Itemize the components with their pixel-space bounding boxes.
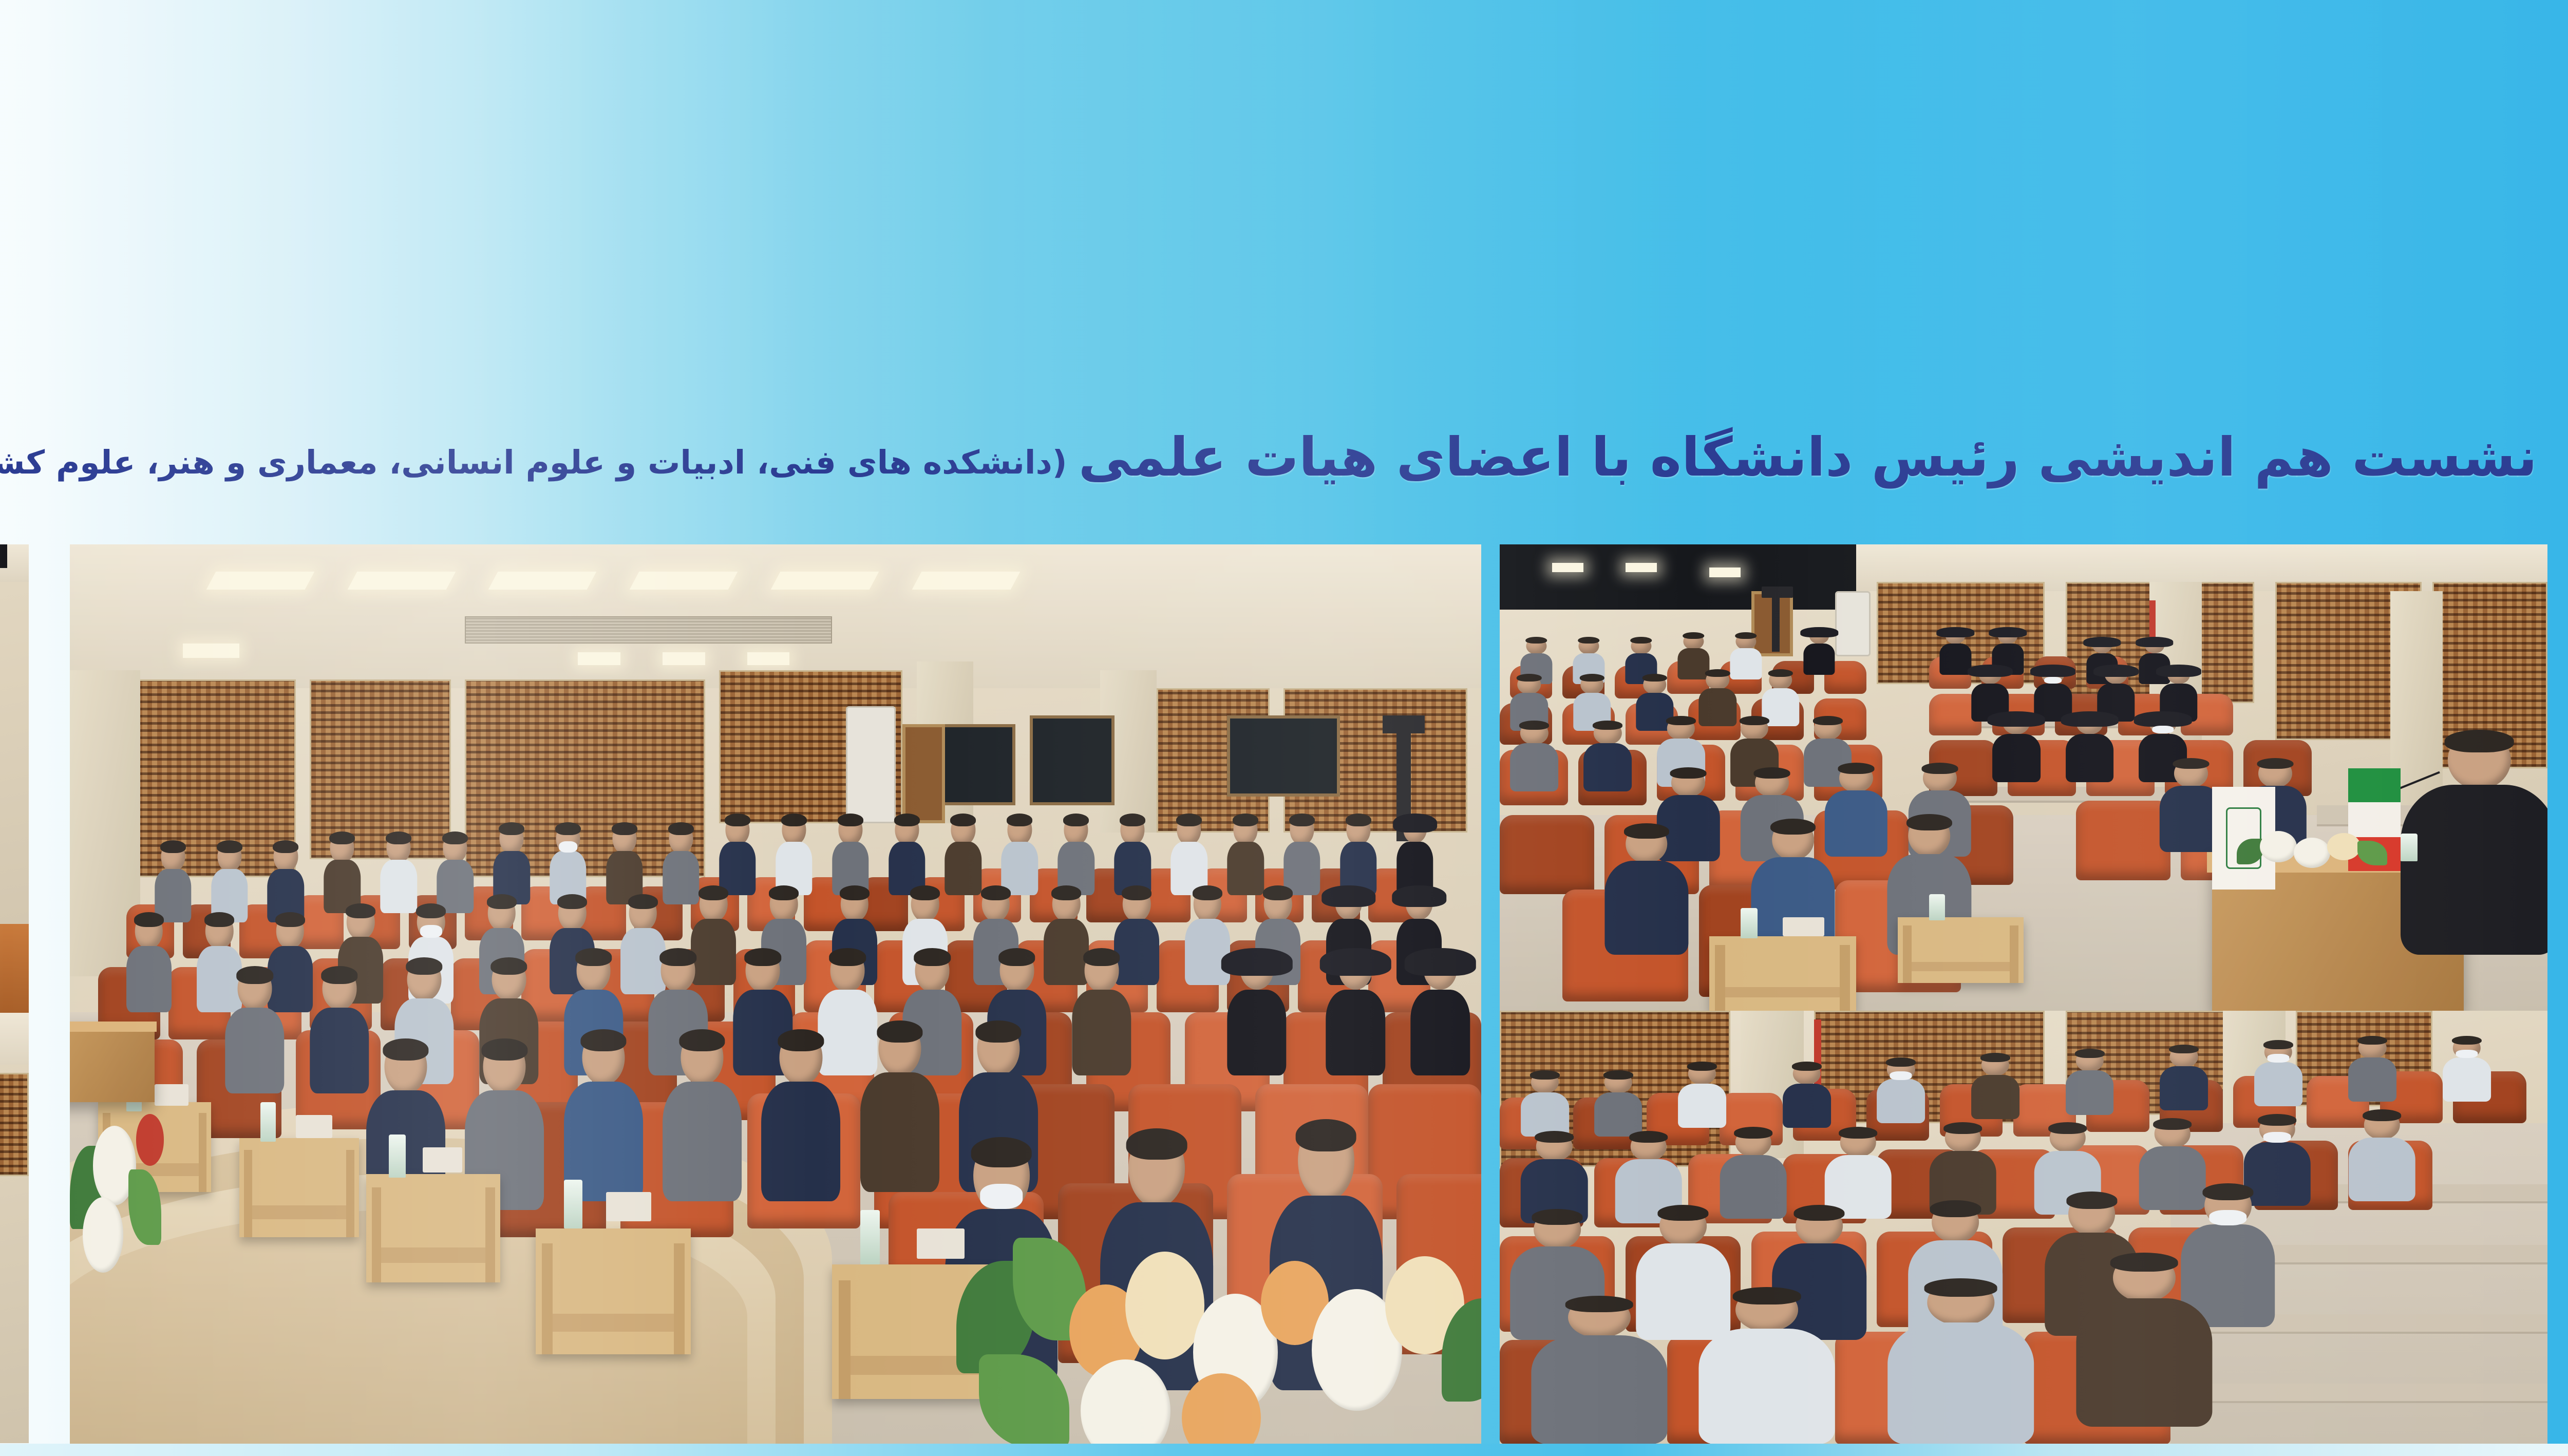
photo-audience-right-top [1500,544,2547,1011]
event-banner: روابط عمومی دانشگاه گیلان نشست هم اندیشی… [0,0,2568,1456]
photo-gallery [0,544,2568,1446]
banner-header: روابط عمومی دانشگاه گیلان نشست هم اندیشی… [0,0,2568,539]
gallery-right-column [1500,544,2547,1444]
photo-hall-wide [70,544,1481,1444]
bottom-accent-strip [0,1444,2568,1456]
photo-speaker-podium [0,544,29,1013]
page-title: نشست هم اندیشی رئیس دانشگاه با اعضای هیا… [1079,430,2537,484]
photo-audience-right-bottom [1500,1011,2547,1444]
banner-title-row: نشست هم اندیشی رئیس دانشگاه با اعضای هیا… [0,430,2537,518]
photo-audience-left [0,1013,29,1443]
gallery-left-column [0,544,29,1443]
page-subtitle: (دانشکده های فنی، ادبیات و علوم انسانی، … [0,446,1067,479]
gallery-center-column [70,544,1481,1444]
